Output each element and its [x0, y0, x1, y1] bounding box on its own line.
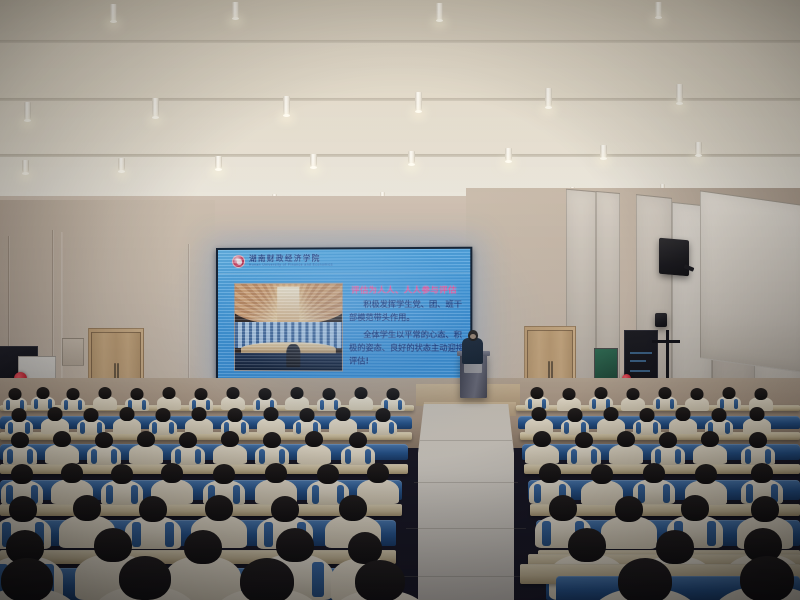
- student-head: [305, 431, 323, 447]
- audience-member: [92, 387, 118, 409]
- student-head: [9, 496, 37, 522]
- audience-member: [524, 407, 554, 433]
- student-head: [11, 464, 33, 484]
- student-uniform: [525, 444, 559, 464]
- audience-member: [284, 387, 310, 409]
- audience-member: [380, 388, 406, 410]
- student-head: [227, 387, 240, 399]
- student-head: [67, 388, 80, 400]
- student-head: [387, 388, 400, 400]
- slide-headline: 评估为人人、人人参与评估: [351, 283, 457, 295]
- student-uniform: [693, 444, 727, 464]
- student-uniform: [129, 444, 163, 464]
- audience-member: [170, 432, 206, 464]
- student-uniform: [213, 444, 247, 464]
- audience-member: [716, 387, 742, 409]
- university-name: 湖南财政经济学院 Hunan University of Finance and…: [249, 255, 333, 268]
- student-head: [300, 408, 315, 422]
- pendant-light-icon: [24, 102, 31, 120]
- audience-member: [588, 387, 614, 409]
- student-uniform: [651, 445, 685, 465]
- student-head: [749, 432, 767, 448]
- student-head: [12, 408, 27, 422]
- audience-member: [340, 432, 376, 464]
- student-head: [192, 407, 207, 421]
- pendant-light-icon: [215, 156, 222, 169]
- pendant-light-icon: [232, 2, 239, 18]
- audience-member: [184, 407, 214, 433]
- student-head: [276, 528, 314, 562]
- access-hatch: [62, 338, 84, 366]
- student-head: [568, 528, 606, 562]
- student-head: [205, 495, 233, 521]
- student-head: [120, 407, 135, 421]
- pendant-light-icon: [283, 96, 290, 115]
- wall-speaker-icon: [659, 238, 689, 277]
- pendant-light-icon: [676, 84, 683, 103]
- student-head: [53, 431, 71, 447]
- student-head: [701, 431, 719, 447]
- student-head: [61, 463, 83, 483]
- audience-member: [742, 407, 772, 433]
- student-head: [531, 387, 544, 399]
- audience-member: [560, 408, 590, 434]
- student-head: [755, 388, 768, 400]
- student-head: [723, 387, 736, 399]
- ceiling-band: [0, 100, 800, 156]
- student-head: [568, 408, 583, 422]
- audience-member: [30, 387, 56, 409]
- pendant-light-icon: [310, 154, 317, 167]
- student-head: [163, 387, 176, 399]
- audience-member-front: [92, 556, 198, 600]
- student-head: [323, 388, 336, 400]
- audience-member: [44, 431, 80, 463]
- student-head: [156, 408, 171, 422]
- student-head: [263, 432, 281, 448]
- student-head: [367, 463, 389, 483]
- student-uniform: [567, 445, 601, 465]
- audience-member: [254, 432, 290, 464]
- monitor-speaker-icon: [655, 313, 667, 327]
- pendant-light-icon: [600, 145, 607, 158]
- student-head: [355, 560, 405, 600]
- student-head: [751, 463, 773, 483]
- student-head: [595, 387, 608, 399]
- student-head: [751, 496, 779, 522]
- student-uniform: [45, 444, 79, 464]
- student-uniform: [255, 445, 289, 465]
- university-name-cn: 湖南财政经济学院: [249, 255, 333, 263]
- student-head: [336, 407, 351, 421]
- pendant-light-icon: [110, 4, 117, 21]
- pendant-light-icon: [408, 151, 415, 164]
- student-head: [681, 495, 709, 521]
- student-head: [271, 496, 299, 522]
- student-head: [691, 388, 704, 400]
- student-head: [221, 431, 239, 447]
- student-head: [228, 408, 243, 422]
- audience-member: [650, 432, 686, 464]
- rack-status-led: [630, 370, 650, 372]
- presenter: [462, 338, 483, 364]
- pendant-light-icon: [415, 92, 422, 111]
- student-head: [533, 431, 551, 447]
- pendant-light-icon: [695, 142, 702, 155]
- presentation-slide: 湖南财政经济学院 Hunan University of Finance and…: [218, 249, 470, 383]
- university-name-en: Hunan University of Finance and Economic…: [249, 264, 333, 268]
- student-head: [376, 408, 391, 422]
- student-head: [617, 431, 635, 447]
- student-uniform: [171, 445, 205, 465]
- student-head: [95, 432, 113, 448]
- student-head: [740, 556, 794, 600]
- student-head: [119, 556, 171, 600]
- student-head: [195, 388, 208, 400]
- photo-skylight: [278, 287, 299, 325]
- student-head: [1, 558, 53, 600]
- student-head: [695, 464, 717, 484]
- student-head: [264, 407, 279, 421]
- student-head: [676, 407, 691, 421]
- student-head: [73, 495, 101, 521]
- student-head: [84, 408, 99, 422]
- student-head: [355, 387, 368, 399]
- student-head: [161, 463, 183, 483]
- audience-member-front: [330, 560, 430, 600]
- audience-member: [556, 388, 582, 410]
- audience-member: [692, 431, 728, 463]
- audience-member: [128, 431, 164, 463]
- audience-member: [220, 387, 246, 409]
- student-head: [137, 431, 155, 447]
- audience-member: [348, 387, 374, 409]
- audience-member: [524, 387, 550, 409]
- student-head: [179, 432, 197, 448]
- audience-member: [566, 432, 602, 464]
- student-head: [539, 463, 561, 483]
- audience-member: [86, 432, 122, 464]
- ceiling-rail: [0, 40, 800, 43]
- student-head: [11, 432, 29, 448]
- slide-photo-library: [234, 283, 343, 372]
- student-head: [591, 464, 613, 484]
- student-head: [750, 407, 765, 421]
- ceiling-rail: [0, 154, 800, 157]
- student-head: [349, 432, 367, 448]
- rack-status-led: [630, 352, 652, 354]
- slide-paragraph: 积极发挥学生党、团、班干部模范带头作用。: [349, 298, 468, 324]
- mic-stand-arm: [652, 340, 680, 343]
- student-head: [48, 407, 63, 421]
- pendant-light-icon: [118, 158, 125, 171]
- student-head: [139, 496, 167, 522]
- rack-status-led: [630, 360, 646, 362]
- audience-member: [156, 387, 182, 409]
- audience-member: [524, 431, 560, 463]
- pendant-light-icon: [22, 160, 29, 173]
- student-head: [563, 388, 576, 400]
- presenter-face: [470, 334, 476, 339]
- student-head: [618, 558, 672, 600]
- slide-header: 湖南财政经济学院 Hunan University of Finance and…: [218, 249, 470, 274]
- student-head: [339, 495, 367, 521]
- student-head: [291, 387, 304, 399]
- audience-seating: [0, 380, 800, 600]
- audience-member: [608, 431, 644, 463]
- audience-member: [668, 407, 698, 433]
- audience-member-front: [712, 556, 800, 600]
- student-head: [213, 464, 235, 484]
- student-uniform: [341, 445, 375, 465]
- student-head: [549, 495, 577, 521]
- student-uniform: [3, 445, 37, 465]
- acoustic-panel-large: [700, 190, 800, 373]
- pendant-light-icon: [655, 2, 662, 17]
- audience-member-front: [212, 558, 322, 600]
- audience-member: [368, 408, 398, 434]
- audience-member: [256, 407, 286, 433]
- audience-member: [296, 431, 332, 463]
- audience-member: [652, 387, 678, 409]
- student-head: [131, 388, 144, 400]
- student-head: [259, 388, 272, 400]
- student-uniform: [297, 444, 331, 464]
- student-head: [240, 558, 294, 600]
- slide-body: 积极发挥学生党、团、班干部模范带头作用。 全体学生以平常的心态、积极的姿态、良好…: [349, 298, 468, 372]
- student-head: [265, 463, 287, 483]
- student-head: [9, 388, 22, 400]
- student-head: [659, 432, 677, 448]
- student-uniform: [87, 445, 121, 465]
- pendant-light-icon: [152, 98, 159, 117]
- audience-member: [212, 431, 248, 463]
- student-head: [37, 387, 50, 399]
- student-head: [712, 408, 727, 422]
- student-head: [317, 464, 339, 484]
- audience-member: [596, 407, 626, 433]
- student-head: [627, 388, 640, 400]
- pendant-light-icon: [505, 148, 512, 161]
- audience-member: [76, 408, 106, 434]
- student-head: [640, 408, 655, 422]
- student-head: [615, 496, 643, 522]
- audience-member: [740, 432, 776, 464]
- audience-member: [112, 407, 142, 433]
- student-uniform: [741, 445, 775, 465]
- photo-seated-person: [286, 344, 300, 367]
- audience-member-front: [0, 558, 80, 600]
- audience-member-front: [590, 558, 700, 600]
- student-head: [643, 463, 665, 483]
- student-uniform: [609, 444, 643, 464]
- pendant-light-icon: [545, 88, 552, 107]
- student-head: [604, 407, 619, 421]
- student-head: [111, 464, 133, 484]
- lecture-hall-photo: 湖南财政经济学院 Hunan University of Finance and…: [0, 0, 800, 600]
- slide-paragraph: 全体学生以平常的心态、积极的姿态、良好的状态主动迎接评估!: [349, 328, 468, 368]
- student-head: [532, 407, 547, 421]
- audience-member: [2, 432, 38, 464]
- pendant-light-icon: [436, 3, 443, 20]
- audience-member: [4, 408, 34, 434]
- audience-member: [328, 407, 358, 433]
- audience-member: [2, 388, 28, 410]
- student-head: [99, 387, 112, 399]
- student-head: [659, 387, 672, 399]
- student-head: [575, 432, 593, 448]
- led-display-wall[interactable]: 湖南财政经济学院 Hunan University of Finance and…: [216, 247, 472, 386]
- university-crest-icon: [232, 255, 245, 268]
- audience-member: [40, 407, 70, 433]
- ceiling-band: [0, 0, 800, 42]
